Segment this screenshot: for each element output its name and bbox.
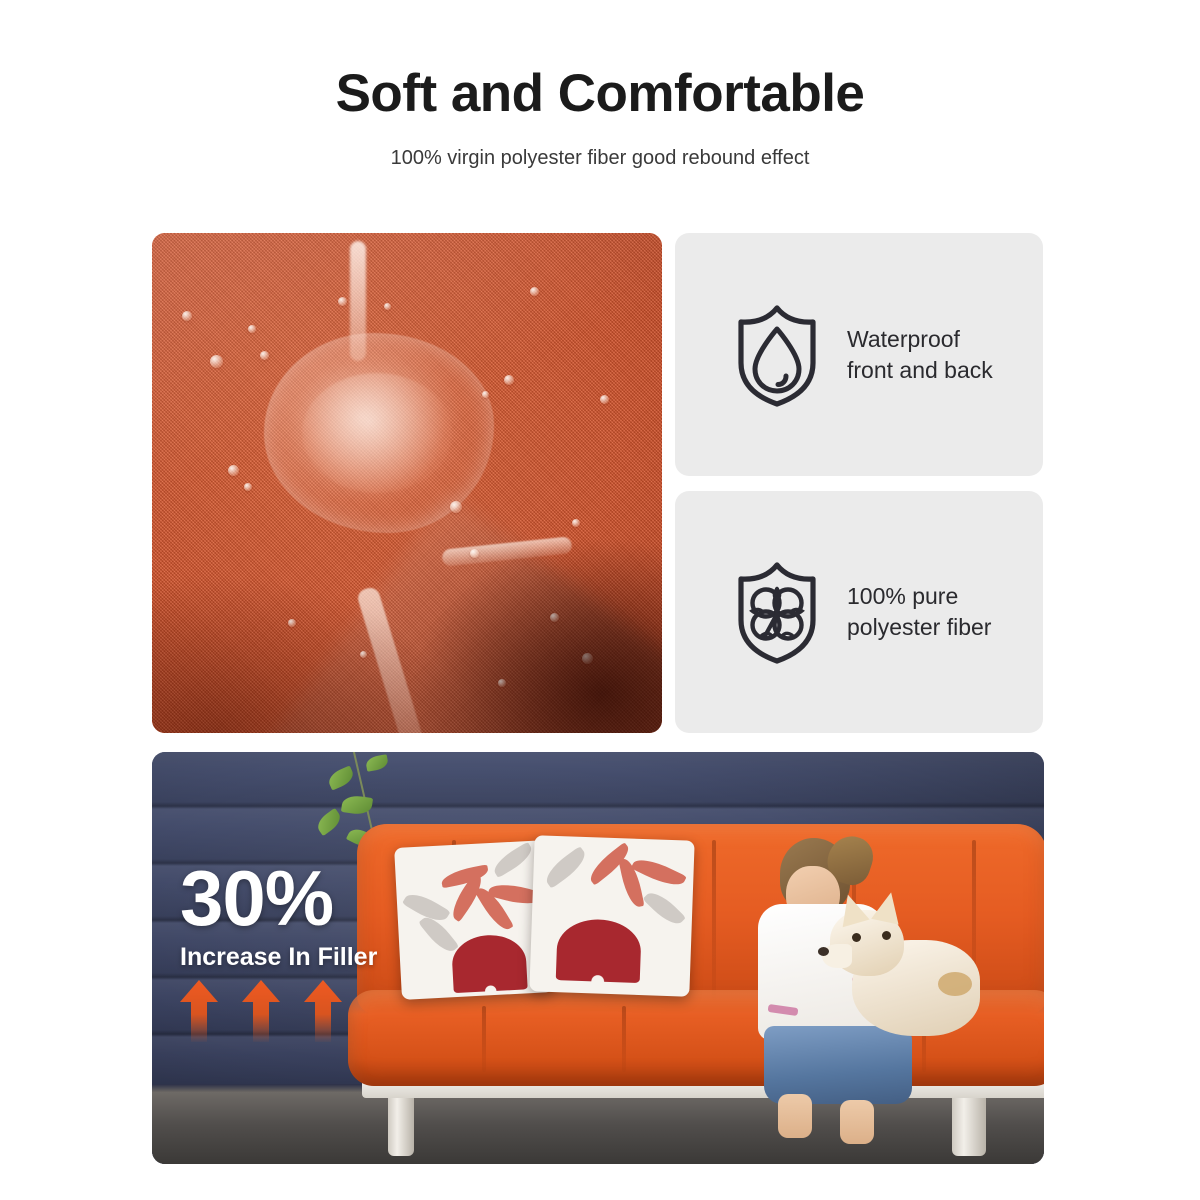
feature-card-waterproof: Waterproof front and back — [675, 233, 1043, 476]
filler-percent: 30% — [180, 860, 510, 936]
shield-waterdrop-icon — [719, 297, 835, 413]
floral-pillow — [529, 835, 694, 996]
waterproof-fabric-photo — [152, 233, 662, 733]
page-subtitle: 100% virgin polyester fiber good rebound… — [0, 144, 1200, 172]
up-arrow-icon — [242, 980, 280, 1042]
girl-jeans — [764, 1026, 912, 1104]
shield-cotton-flower-icon — [719, 554, 835, 670]
filler-caption: Increase In Filler — [180, 942, 510, 972]
filler-overlay: 30% Increase In Filler — [180, 860, 510, 972]
girl-foot — [840, 1100, 874, 1144]
cushion-tuft — [482, 1006, 486, 1072]
feature-card-fiber: 100% pure polyester fiber — [675, 491, 1043, 733]
fabric-shading — [152, 233, 662, 733]
cushion-tuft — [712, 840, 716, 1000]
page-title: Soft and Comfortable — [0, 64, 1200, 124]
product-feature-page: Soft and Comfortable 100% virgin polyest… — [0, 0, 1200, 1200]
ground-surface — [152, 1092, 1044, 1164]
feature-card-waterproof-text: Waterproof front and back — [847, 324, 993, 386]
up-arrow-icon — [304, 980, 342, 1042]
pillow-leaf — [541, 846, 590, 889]
dog-eye — [882, 931, 891, 940]
feature-card-fiber-line2: polyester fiber — [847, 612, 991, 643]
feature-card-waterproof-line2: front and back — [847, 355, 993, 386]
girl-foot — [778, 1094, 812, 1138]
pillow-fan-flower — [556, 918, 642, 983]
feature-card-fiber-line1: 100% pure — [847, 581, 991, 612]
lifestyle-banner-photo: 30% Increase In Filler — [152, 752, 1044, 1164]
feature-card-fiber-text: 100% pure polyester fiber — [847, 581, 991, 643]
page-header: Soft and Comfortable 100% virgin polyest… — [0, 64, 1200, 172]
dog-fur-patch — [938, 972, 972, 996]
dog-nose — [818, 947, 829, 956]
cushion-tuft — [622, 1006, 626, 1072]
filler-arrow-group — [180, 980, 400, 1044]
dog-eye — [852, 933, 861, 942]
up-arrow-icon — [180, 980, 218, 1042]
pillow-leaf — [643, 887, 686, 930]
feature-card-waterproof-line1: Waterproof — [847, 324, 993, 355]
